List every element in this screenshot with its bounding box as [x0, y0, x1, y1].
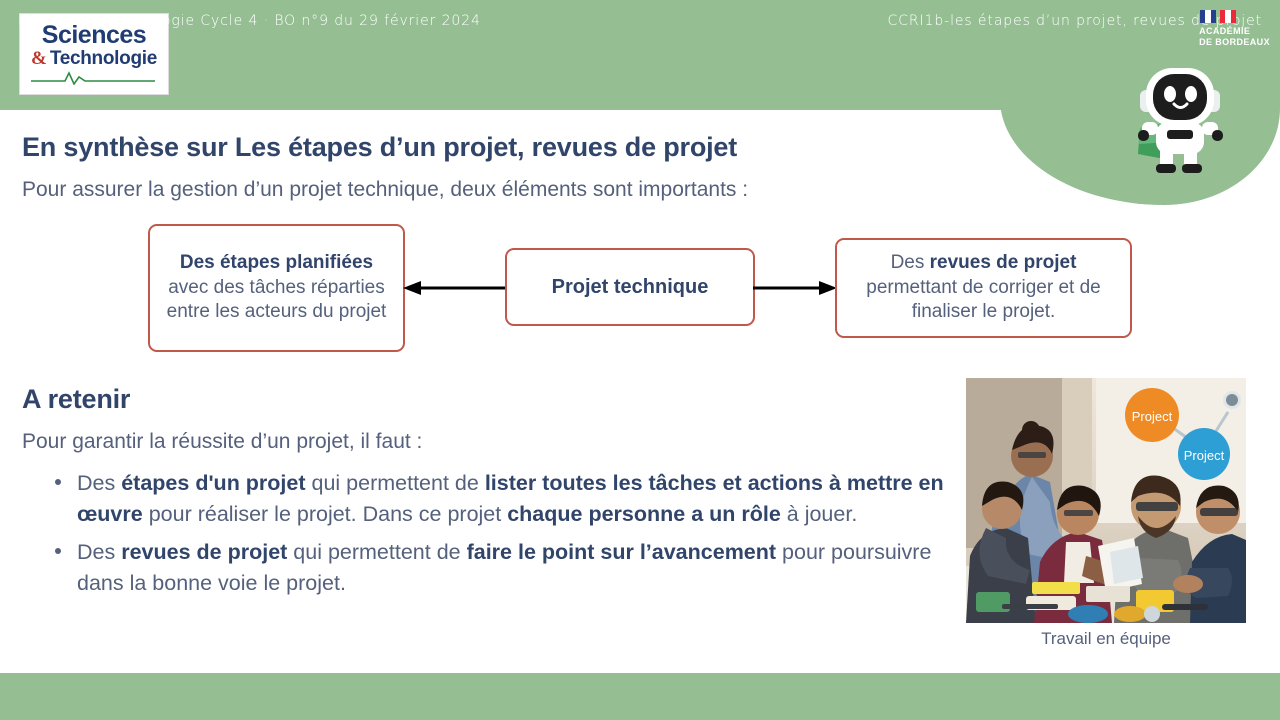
synthese-intro: Pour assurer la gestion d’un projet tech… [22, 178, 748, 202]
bullet-1-part-3: pour réaliser le projet. Dans ce projet [143, 502, 507, 526]
robot-mascot-icon [1120, 60, 1240, 180]
bullet-2-part-1: Des [77, 540, 121, 564]
bullet-dot-icon [55, 479, 61, 485]
logo-technologie-text: Technologie [50, 49, 157, 68]
slide-root: Sciences & Technologie CCRI-Création, co… [0, 0, 1280, 720]
bullet-2-bold-1: revues de projet [121, 540, 287, 564]
bullet-2-part-2: qui permettent de [287, 540, 466, 564]
diagram-center-label: Projet technique [552, 274, 709, 300]
retenir-bullet-list: Des étapes d'un projet qui permettent de… [48, 468, 948, 606]
teamwork-photo: Project Project [966, 378, 1246, 623]
logo-technologie-row: & Technologie [31, 49, 157, 68]
ecg-wave-icon [29, 69, 159, 85]
footer-band [0, 673, 1280, 720]
arrow-left-icon [403, 280, 507, 296]
bullet-1-part-1: Des [77, 471, 121, 495]
photo-graphic-label-2: Project [1184, 448, 1225, 463]
list-item: Des revues de projet qui permettent de f… [48, 537, 948, 598]
arrow-right-icon [753, 280, 837, 296]
retenir-heading: A retenir [22, 384, 130, 415]
project-management-diagram: Des étapes planifiées avec des tâches ré… [0, 218, 1280, 368]
photo-caption: Travail en équipe [966, 629, 1246, 649]
diagram-right-lead: Des [891, 252, 930, 273]
bullet-dot-icon [55, 548, 61, 554]
bullet-1-part-4: à jouer. [781, 502, 858, 526]
diagram-left-rest: avec des tâches réparties entre les acte… [167, 277, 387, 323]
diagram-box-project-reviews: Des revues de projet permettant de corri… [835, 238, 1132, 338]
teamwork-photo-block: Project Project [966, 378, 1246, 649]
academie-line-2: DE BORDEAUX [1199, 37, 1270, 48]
diagram-box-planned-steps: Des étapes planifiées avec des tâches ré… [148, 224, 405, 352]
photo-graphic-label-1: Project [1132, 409, 1173, 424]
diagram-right-rest: permettant de corriger et de finaliser l… [866, 277, 1100, 323]
footer-source-text: Ressource Technologie Cycle 4 · BO n°9 d… [18, 13, 481, 29]
french-flag-icon [1200, 10, 1270, 23]
bullet-1-part-2: qui permettent de [306, 471, 485, 495]
diagram-right-strong: revues de projet [930, 252, 1077, 273]
academie-bordeaux-logo: ACADÉMIE DE BORDEAUX [1199, 10, 1270, 49]
diagram-box-technical-project: Projet technique [505, 248, 755, 326]
retenir-intro: Pour garantir la réussite d’un projet, i… [22, 430, 422, 454]
bullet-2-bold-2: faire le point sur l’avancement [467, 540, 776, 564]
bullet-1-bold-1: étapes d'un projet [121, 471, 305, 495]
logo-ampersand: & [31, 49, 47, 68]
list-item: Des étapes d'un projet qui permettent de… [48, 468, 948, 529]
bullet-1-bold-3: chaque personne a un rôle [507, 502, 781, 526]
synthese-heading: En synthèse sur Les étapes d’un projet, … [22, 132, 737, 163]
academie-line-1: ACADÉMIE [1199, 26, 1270, 37]
diagram-left-strong: Des étapes planifiées [180, 252, 373, 273]
teamwork-photo-illustration: Project Project [966, 378, 1246, 623]
